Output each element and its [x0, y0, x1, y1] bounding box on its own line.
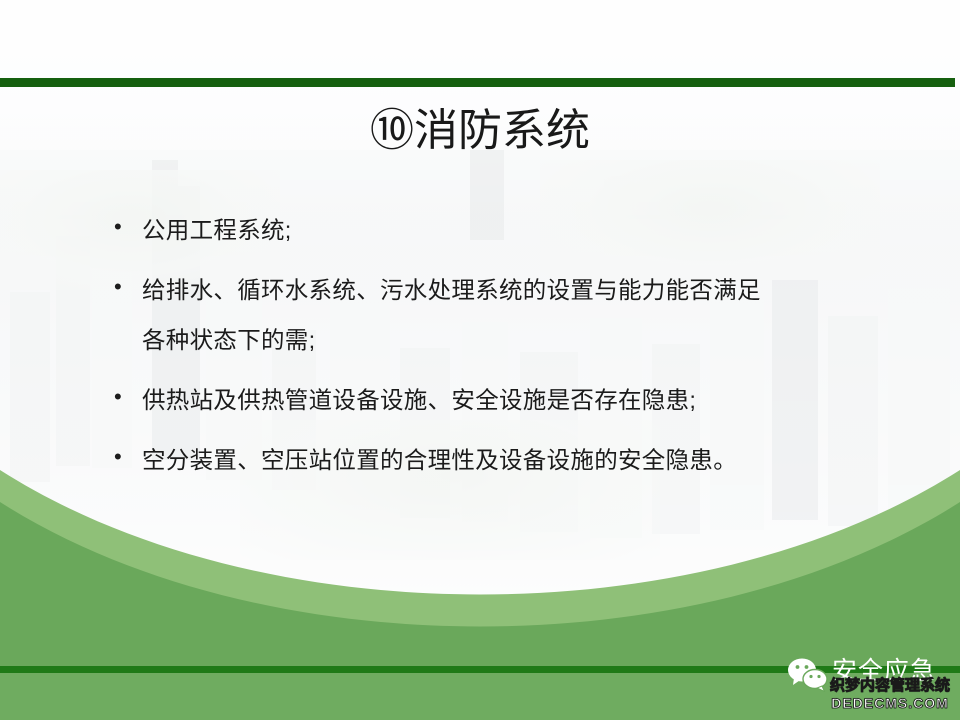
- list-item-text: 给排水、循环水系统、污水处理系统的设置与能力能否满足 各种状态下的需;: [142, 265, 900, 365]
- bullet-list: • 公用工程系统; • 给排水、循环水系统、污水处理系统的设置与能力能否满足 各…: [110, 205, 900, 495]
- watermark: 织梦内容管理系统 DEDECMS.COM: [820, 678, 960, 711]
- watermark-english: DEDECMS.COM: [820, 696, 960, 711]
- slide: ⑩消防系统 • 公用工程系统; • 给排水、循环水系统、污水处理系统的设置与能力…: [0, 0, 960, 720]
- list-item-text-line2: 各种状态下的需;: [142, 315, 900, 365]
- list-item-text: 供热站及供热管道设备设施、安全设施是否存在隐患;: [142, 375, 900, 425]
- list-item: • 供热站及供热管道设备设施、安全设施是否存在隐患;: [110, 375, 900, 425]
- bullet-marker-icon: •: [114, 205, 128, 249]
- list-item: • 公用工程系统;: [110, 205, 900, 255]
- list-item: • 给排水、循环水系统、污水处理系统的设置与能力能否满足 各种状态下的需;: [110, 265, 900, 365]
- bullet-marker-icon: •: [114, 375, 128, 419]
- list-item-text-line1: 给排水、循环水系统、污水处理系统的设置与能力能否满足: [142, 277, 761, 303]
- page-title: ⑩消防系统: [0, 103, 960, 159]
- watermark-chinese: 织梦内容管理系统: [820, 678, 960, 694]
- bullet-marker-icon: •: [114, 265, 128, 309]
- top-divider-rule: [0, 78, 955, 87]
- list-item-text: 公用工程系统;: [142, 205, 900, 255]
